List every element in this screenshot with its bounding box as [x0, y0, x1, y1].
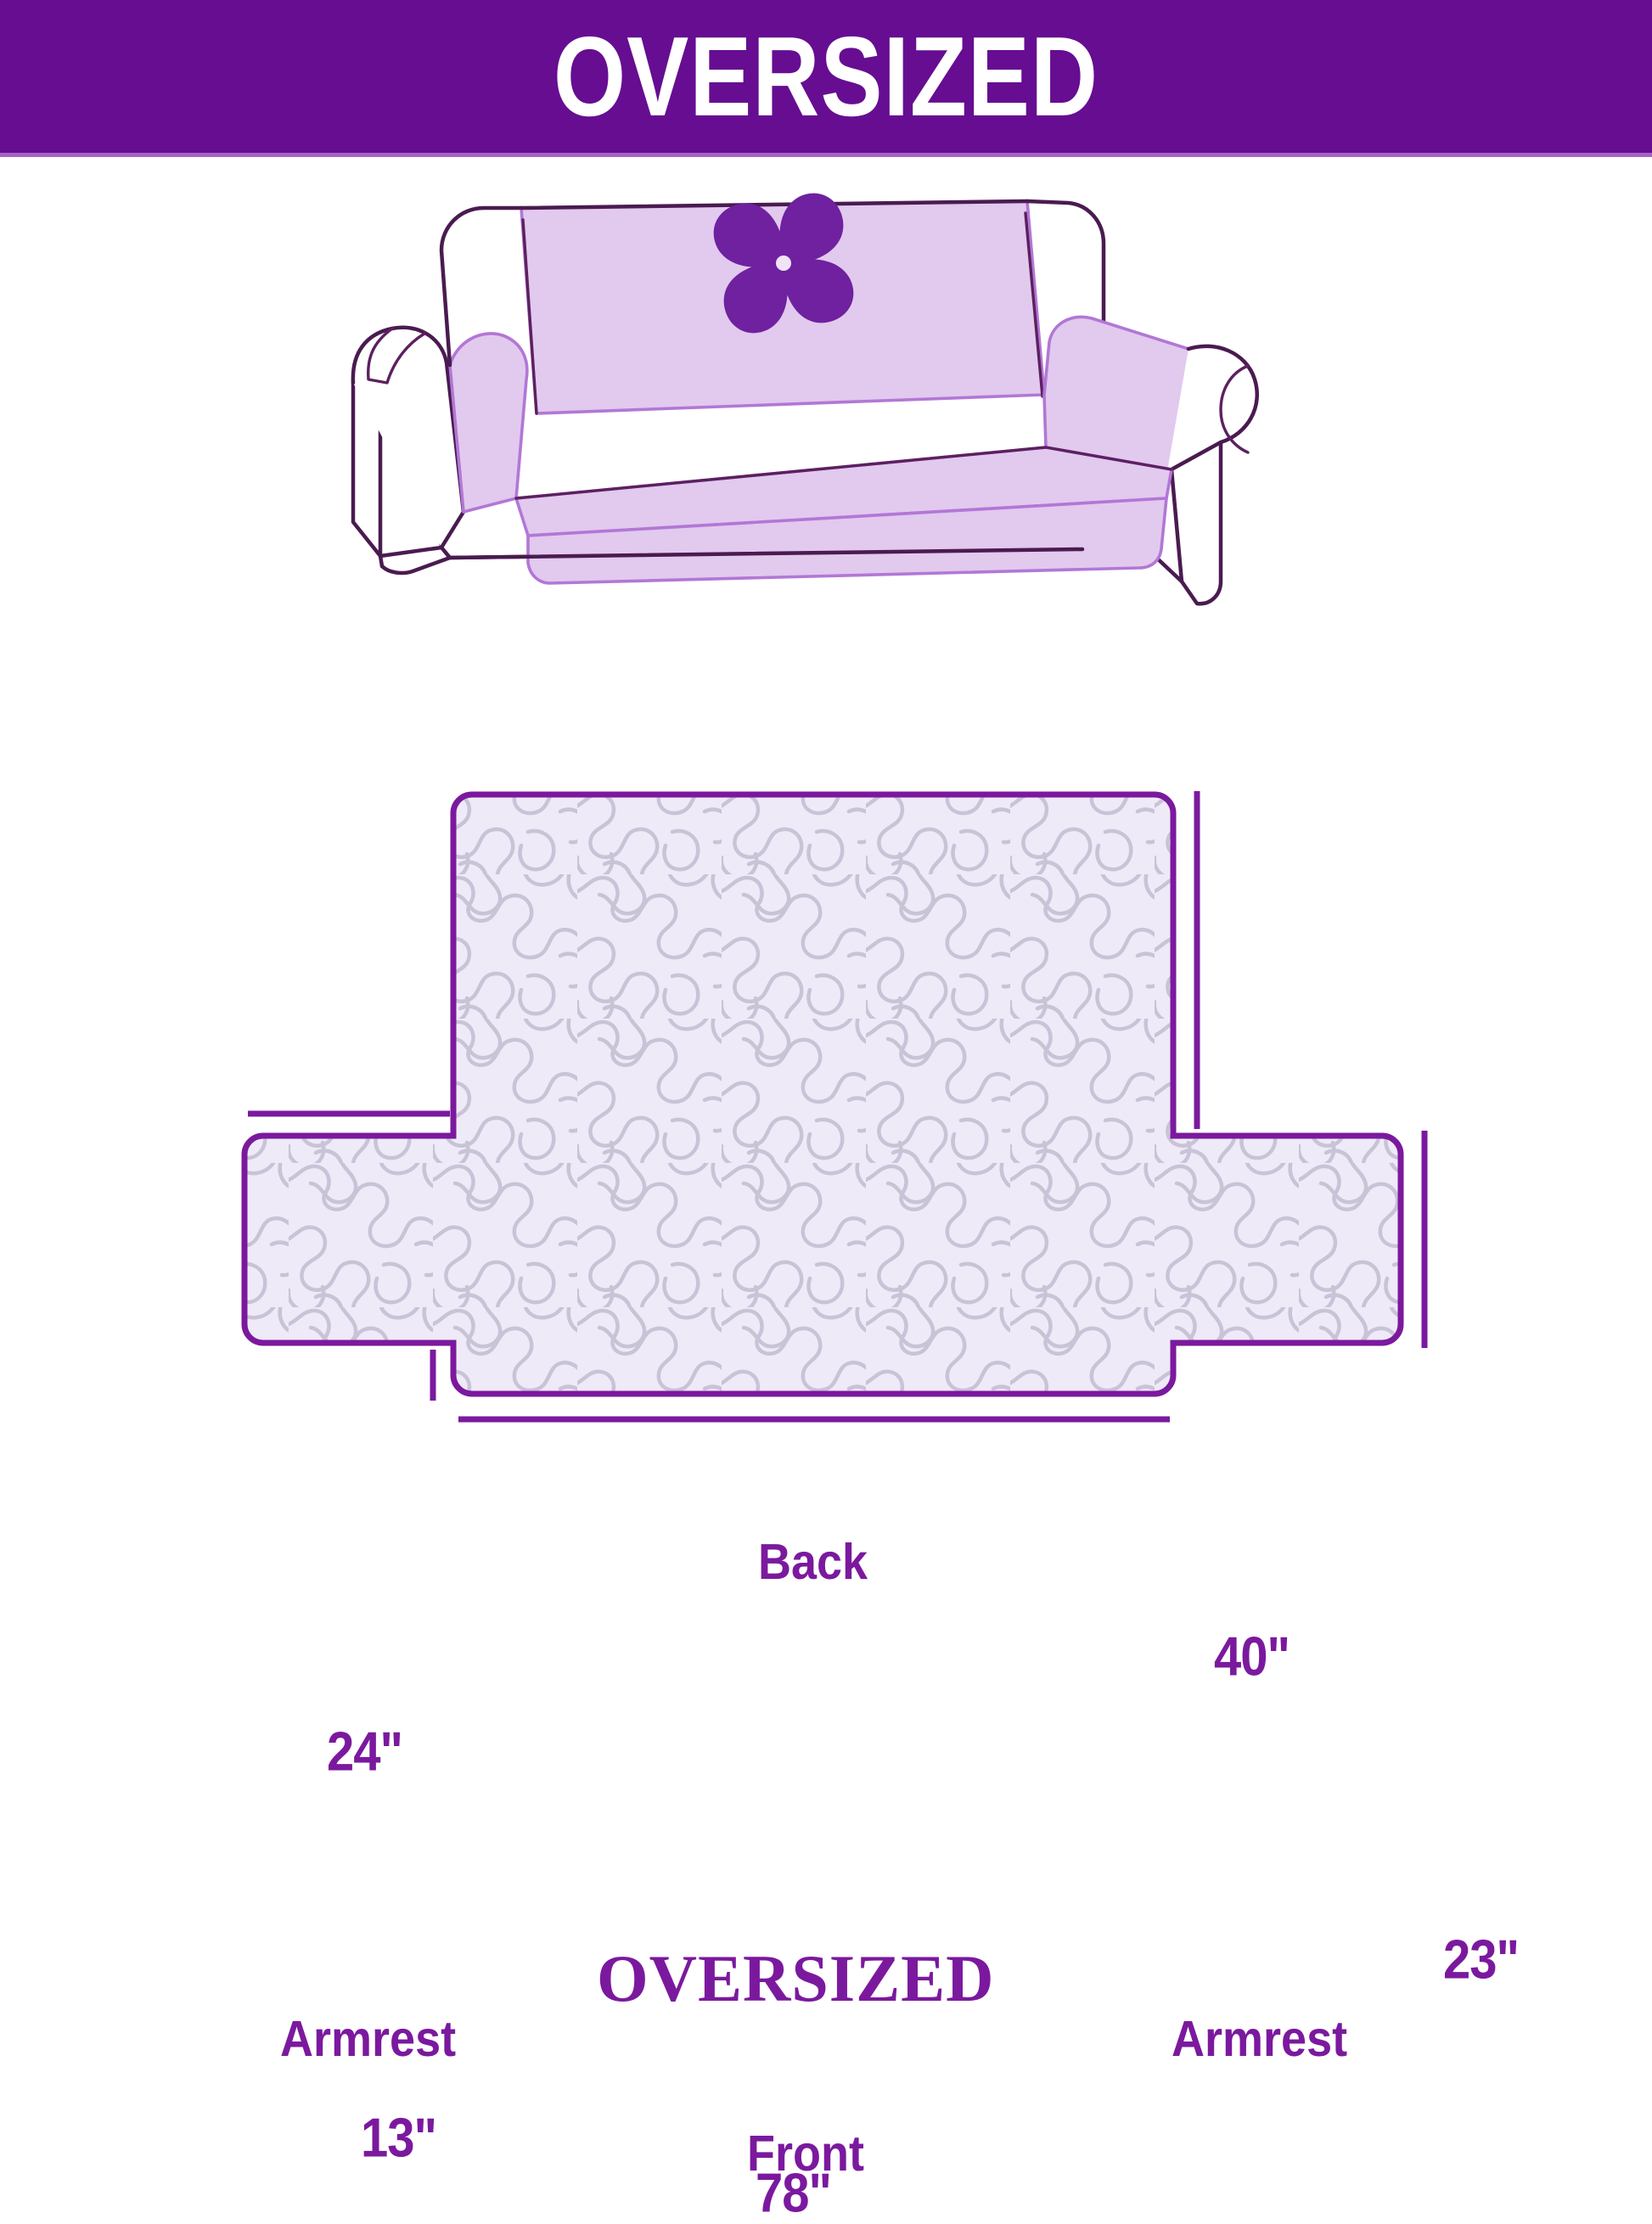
label-armrest-left: Armrest: [280, 2013, 456, 2064]
sofa-svg: .ol { fill:none; stroke:#4A1B50; stroke-…: [314, 183, 1350, 692]
dimension-label-40: 40": [1214, 1630, 1290, 1685]
header-banner: OVERSIZED: [0, 0, 1652, 153]
dimension-diagram: Back Armrest Armrest Front OVERSIZED 40"…: [0, 730, 1652, 1652]
dimension-label-13: 13": [361, 2111, 436, 2166]
dimension-label-78: 78": [756, 2166, 831, 2221]
sofa-illustration: .ol { fill:none; stroke:#4A1B50; stroke-…: [314, 183, 1350, 692]
label-oversized-center: OVERSIZED: [597, 1946, 994, 2012]
label-armrest-right: Armrest: [1172, 2013, 1347, 2064]
cover-outline-shape: [244, 795, 1401, 1394]
dimension-label-23: 23": [1443, 1933, 1519, 1988]
dimension-label-24: 24": [327, 1725, 402, 1780]
dimension-diagram-svg: [0, 730, 1652, 1652]
banner-underline: [0, 153, 1652, 157]
banner-title: OVERSIZED: [553, 20, 1099, 132]
label-back: Back: [758, 1536, 868, 1587]
